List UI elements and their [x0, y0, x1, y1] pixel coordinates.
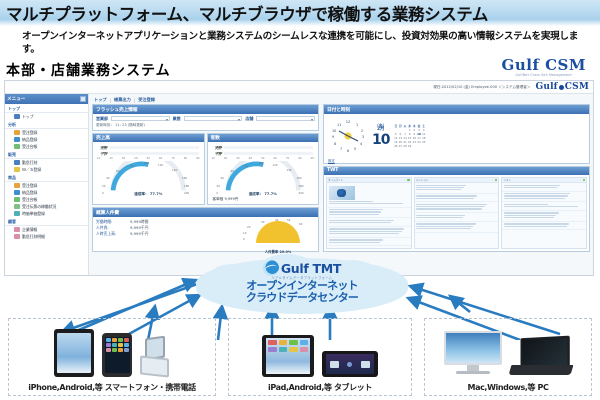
device-caption-pc: Mac,Windows,等 PC: [425, 382, 591, 393]
axis-tick: 90: [311, 157, 314, 160]
labor-cost-panel-title: 概算人件費: [93, 208, 318, 217]
calendar-day[interactable]: 22: [407, 140, 412, 144]
labor-cost-pie: 0 10 20 30 42 54 60 人件費率: [241, 219, 315, 249]
calendar-day[interactable]: 17: [417, 136, 422, 140]
twt-post-line: [416, 195, 477, 196]
datetime-panel-title: 日付と時刻: [324, 105, 589, 114]
labor-row-key: 人時売上高:: [96, 231, 130, 237]
sidebar-item-4-0[interactable]: 企業情報: [5, 226, 88, 233]
svg-text:4: 4: [360, 142, 362, 146]
bar-value: 772: [102, 151, 108, 155]
calendar-day[interactable]: 11: [421, 132, 426, 136]
twt-post[interactable]: [327, 218, 411, 227]
lead-paragraph: オープンインターネットアプリケーションと業務システムのシームレスな連携を可能にし…: [22, 30, 592, 56]
green-status-icon: [495, 179, 498, 182]
blue-download-icon: [14, 190, 20, 195]
gulf-tmt-swoosh-icon: [263, 260, 279, 276]
breadcrumb-item[interactable]: 受注登録: [138, 97, 155, 103]
logo-dot-icon: [559, 85, 564, 90]
sidebar-item-label: 受注登録: [22, 183, 37, 189]
twt-post[interactable]: [502, 222, 586, 231]
twt-post[interactable]: [415, 194, 499, 203]
sidebar-item-label: 企業情報: [22, 227, 37, 233]
twt-post-line: [329, 231, 402, 232]
axis-tick: 20: [224, 157, 227, 160]
dashboard-left-column: トップ|帳票出力|受注登録 フラッシュ売上情報 営業部業態店舗 更新時刻： 11…: [89, 94, 321, 276]
sidebar-item-3-1[interactable]: 納品登録: [5, 189, 88, 196]
twt-post-line: [416, 223, 476, 224]
twt-column[interactable]: メンション: [414, 177, 500, 249]
guests-panel: 客数 実績601予算790 102030405060708090: [207, 133, 320, 206]
settings-link[interactable]: 設定: [324, 158, 589, 163]
flip-phone-icon: [140, 337, 170, 377]
calendar-day[interactable]: 15: [407, 136, 412, 140]
sidebar-section-label: 顧客: [5, 217, 88, 226]
calendar-day[interactable]: 14: [403, 136, 408, 140]
sales-axis: 102030405060708090: [96, 157, 201, 160]
twt-post-line: [329, 220, 394, 221]
gulf-tmt-logo: Gulf TMT: [263, 260, 341, 276]
guests-panel-body: 実績601予算790 102030405060708090 0: [208, 142, 319, 204]
flash-sales-panel-title: フラッシュ売上情報: [93, 105, 318, 114]
twt-post-line: [329, 201, 373, 202]
calendar-day[interactable]: 26: [393, 144, 398, 148]
orange-doc-icon: [14, 130, 20, 135]
sidebar-item-1-1[interactable]: 納品登録: [5, 136, 88, 143]
sidebar-item-label: 受注台帳: [22, 144, 37, 150]
bar-track: 601: [109, 146, 199, 150]
flash-sales-panel-body: 営業部業態店舗 更新時刻： 11: 23 (随時更新): [93, 114, 318, 130]
twt-post[interactable]: [327, 208, 411, 219]
sidebar-item-label: 納品登録: [22, 190, 37, 196]
sidebar-item-2-1[interactable]: Ｗ／Ｓ登録: [5, 166, 88, 173]
twt-post-line: [329, 214, 379, 215]
svg-text:7: 7: [340, 147, 342, 151]
svg-text:1: 1: [356, 123, 358, 127]
mini-calendar-table: 日月火水木金土123456789101112131415161718192021…: [393, 124, 426, 148]
sales-panel-body: 実績601予算772 102030405060708090 0: [93, 142, 204, 199]
twt-post-line: [329, 222, 392, 223]
app-top-bar: 現在:2012/02/10 (金) Employee-000 ＜システム管理者＞…: [5, 81, 593, 94]
axis-tick: 90: [196, 157, 199, 160]
sidebar-item-label: 納品登録: [22, 137, 37, 143]
guests-panel-title: 客数: [208, 134, 319, 143]
bar-track: 601: [224, 146, 314, 150]
calendar-day[interactable]: 29: [407, 144, 412, 148]
calendar-day[interactable]: 10: [417, 132, 422, 136]
sidebar-item-3-2[interactable]: 受注台帳: [5, 196, 88, 203]
datetime-panel: 日付と時刻 12 1 2: [323, 104, 590, 164]
twt-post-line: [329, 242, 381, 243]
axis-tick: 50: [261, 157, 264, 160]
filter-select[interactable]: [184, 116, 243, 121]
sidebar-item-3-3[interactable]: 受注伝票の稼働状況: [5, 203, 88, 210]
twt-post-line: [416, 187, 464, 188]
bar-row: 予算772: [98, 151, 199, 156]
device-caption-tablets: iPad,Android,等 タブレット: [229, 382, 411, 393]
green-line-icon: [14, 197, 20, 202]
twt-post[interactable]: [415, 183, 499, 194]
slide-page: マルチプラットフォーム、マルチブラウザで稼働する業務システム オープンインターネ…: [0, 0, 600, 400]
sales-bar-chart: 実績601予算772: [96, 144, 201, 156]
filter-select[interactable]: [111, 116, 170, 121]
twt-post-line: [504, 217, 554, 218]
twt-post[interactable]: [415, 213, 499, 222]
axis-tick: 10: [97, 157, 100, 160]
pink-folder-icon: [14, 234, 20, 239]
calendar-day[interactable]: 12: [393, 136, 398, 140]
twt-post[interactable]: [327, 227, 411, 238]
teal-tag-icon: [14, 211, 20, 216]
filter-row: 営業部業態店舗: [96, 116, 315, 122]
twt-post-line: [504, 198, 565, 199]
sidebar-item-1-2[interactable]: 受注台帳: [5, 143, 88, 150]
app-header-logo: GulfCSM: [535, 82, 589, 92]
labor-cost-panel: 概算人件費 労働時間:9,999時間人件費:9,999千円人時売上高:9,999…: [92, 207, 319, 252]
laptop-icon: [510, 337, 572, 377]
sidebar-section-label: トップ: [5, 104, 88, 113]
twt-post-line: [504, 223, 569, 224]
twt-post-line: [416, 204, 487, 205]
labor-pie-caption-label: 人件費率: [265, 250, 279, 254]
green-status-icon: [407, 179, 410, 182]
device-caption-smartphones: iPhone,Android,等 スマートフォン・携帯電話: [9, 382, 215, 393]
twt-post[interactable]: [502, 202, 586, 211]
svg-text:6: 6: [347, 149, 349, 153]
sales-gauge-labels: 0 20 40 60 80 100 120 142 160: [96, 161, 201, 195]
svg-text:12: 12: [346, 120, 351, 124]
bar-row: 実績601: [98, 145, 199, 150]
twt-post-line: [504, 204, 548, 205]
pink-folder-icon: [14, 227, 20, 232]
date-day: 10: [372, 133, 389, 147]
sidebar-section-label: 販売: [5, 150, 88, 159]
app-screenshot: 現在:2012/02/10 (金) Employee-000 ＜システム管理者＞…: [4, 80, 594, 276]
breadcrumb: トップ|帳票出力|受注登録: [92, 96, 319, 104]
calendar-week: 19202122232425: [393, 140, 426, 144]
avg-spend-row: 客単価 9,999円: [211, 197, 316, 202]
axis-tick: 30: [236, 157, 239, 160]
breadcrumb-item[interactable]: 帳票出力: [114, 97, 131, 103]
labor-pie-labels: 0 10 20 30 42 54 60: [241, 219, 315, 249]
sidebar-section-label: 分析: [5, 120, 88, 129]
twt-post-line: [504, 185, 560, 186]
banner-title: マルチプラットフォーム、マルチブラウザで稼働する業務システム: [0, 1, 488, 25]
calendar-day[interactable]: 27: [398, 144, 403, 148]
smartphone-images: [9, 322, 215, 377]
sales-panel: 売上高 実績601予算772 102030405060708090: [92, 133, 205, 206]
calendar-day[interactable]: 21: [403, 140, 408, 144]
gulf-csm-logo-text: Gulf CSM: [502, 58, 586, 73]
tablet-images: [229, 322, 411, 377]
twt-panel-title: TWT: [324, 167, 589, 176]
axis-tick: 60: [273, 157, 276, 160]
yellow-line-icon: [14, 167, 20, 172]
sidebar-item-2-0[interactable]: 勤怠打刻: [5, 159, 88, 166]
sidebar-item-3-0[interactable]: 受注登録: [5, 182, 88, 189]
twt-column-name: タイムライン: [328, 178, 343, 182]
svg-text:8: 8: [334, 142, 336, 146]
blue-download-icon: [14, 137, 20, 142]
twt-post-line: [504, 187, 557, 188]
twt-post-line: [329, 228, 405, 229]
twt-post-line: [329, 211, 381, 212]
page-title: 本部・店舗業務システム: [6, 60, 171, 80]
sidebar-item-label: 受注登録: [22, 130, 37, 136]
sidebar-item-0-0[interactable]: トップ: [5, 113, 88, 120]
labor-pie-caption-value: 20.0%: [279, 250, 291, 254]
svg-text:10: 10: [332, 129, 336, 133]
sales-panel-title: 売上高: [93, 134, 204, 143]
android-tablet-wide-icon: [322, 351, 378, 377]
labor-pie-caption: 人件費率 20.0%: [241, 249, 315, 254]
twt-post-line: [416, 185, 466, 186]
updated-time: 更新時刻： 11: 23 (随時更新): [96, 123, 315, 128]
sidebar-item-label: トップ: [22, 114, 33, 120]
axis-tick: 10: [212, 157, 215, 160]
home-icon: [14, 160, 20, 165]
home-icon: [14, 114, 20, 119]
twt-post[interactable]: [327, 183, 411, 208]
axis-tick: 40: [134, 157, 137, 160]
twt-post-line: [504, 212, 559, 213]
gulf-tmt-logo-text: Gulf TMT: [281, 261, 341, 276]
calendar-day[interactable]: 25: [421, 140, 426, 144]
calendar-day[interactable]: 28: [403, 144, 408, 148]
labor-cost-rows: 労働時間:9,999時間人件費:9,999千円人時売上高:9,999千円: [96, 219, 241, 249]
twt-post-line: [504, 226, 567, 227]
calendar-day[interactable]: 19: [393, 140, 398, 144]
calendar-day[interactable]: [421, 144, 426, 148]
twt-post-line: [416, 215, 465, 216]
filter-label: 営業部: [96, 116, 108, 122]
app-status-text: 現在:2012/02/10 (金) Employee-000 ＜システム管理者＞: [433, 85, 530, 90]
bar-track: 772: [109, 152, 199, 156]
calendar-day[interactable]: 23: [412, 140, 417, 144]
guests-gauge: 0 20 40 60 80 100 120 142 160: [211, 161, 316, 195]
twt-post[interactable]: [327, 238, 411, 247]
axis-tick: 30: [122, 157, 125, 160]
twt-post-image: [329, 186, 355, 200]
twt-post-line: [416, 217, 463, 218]
sidebar-item-3-4[interactable]: 時価単価登録: [5, 210, 88, 217]
pc-images: [425, 322, 591, 377]
guests-bar-chart: 実績601予算790: [211, 144, 316, 156]
flash-sales-panel: フラッシュ売上情報 営業部業態店舗 更新時刻： 11: 23 (随時更新): [92, 104, 319, 131]
twt-column-name: リスト: [503, 178, 511, 182]
calendar-header: 木: [412, 124, 417, 128]
bar-row: 予算790: [213, 151, 314, 156]
sidebar-item-label: Ｗ／Ｓ登録: [22, 167, 41, 173]
axis-tick: 20: [109, 157, 112, 160]
analog-clock-icon: 12 1 2 3 4 5 6 7 8 9: [328, 116, 368, 156]
twt-post-line: [416, 226, 473, 227]
app-body: メニュー トップトップ分析受注登録納品登録受注台帳販売勤怠打刻Ｗ／Ｓ登録商品受注…: [5, 94, 593, 276]
twt-post[interactable]: [415, 202, 499, 213]
sidebar-item-label: 受注伝票の稼働状況: [22, 204, 56, 210]
green-status-icon: [583, 179, 586, 182]
twt-post[interactable]: [502, 211, 586, 222]
dashboard-right-column: 日付と時刻 12 1 2: [321, 94, 593, 276]
cloud-line-2: クラウドデータセンター: [246, 292, 358, 304]
iphone-icon: [102, 333, 132, 377]
device-row: iPhone,Android,等 スマートフォン・携帯電話: [0, 318, 600, 400]
sidebar-item-4-1[interactable]: 勤怠打刻明細: [5, 233, 88, 240]
twt-post-line: [504, 195, 568, 196]
twt-post[interactable]: [415, 222, 499, 233]
axis-tick: 70: [171, 157, 174, 160]
gulf-csm-logo: Gulf CSM GulfNet Cross Sell Management: [502, 58, 586, 77]
twt-post-line: [416, 198, 474, 199]
twt-post-line: [329, 239, 383, 240]
orange-doc-icon: [14, 183, 20, 188]
calendar-day[interactable]: 13: [398, 136, 403, 140]
guests-gauge-labels: 0 20 40 60 80 100 120 142 160: [211, 161, 316, 195]
axis-tick: 50: [147, 157, 150, 160]
twt-post-line: [504, 206, 578, 207]
bar-value: 601: [217, 145, 223, 149]
axis-tick: 80: [298, 157, 301, 160]
avg-spend-label: 客単価: [213, 197, 224, 201]
twt-post-line: [329, 209, 384, 210]
bar-value: 790: [217, 151, 223, 155]
axis-tick: 70: [286, 157, 289, 160]
svg-text:2: 2: [361, 129, 363, 133]
twt-post-line: [329, 203, 403, 204]
device-group-smartphones: iPhone,Android,等 スマートフォン・携帯電話: [8, 318, 216, 396]
twt-panel: TWT タイムラインメンションリスト: [323, 166, 590, 253]
green-line-icon: [14, 144, 20, 149]
imac-icon: [444, 331, 502, 377]
svg-text:9: 9: [332, 135, 334, 139]
twt-post-line: [504, 193, 570, 194]
bar-row: 実績601: [213, 145, 314, 150]
device-group-tablets: iPad,Android,等 タブレット: [228, 318, 412, 396]
date-display: （金） 2月 10: [372, 124, 389, 146]
sidebar-item-label: 勤怠打刻: [22, 160, 37, 166]
twt-post-line: [416, 228, 471, 229]
calendar-day[interactable]: 24: [417, 140, 422, 144]
cloud-datacenter: Gulf TMT リアルタイムデータプラットフォーム オープンインターネット ク…: [196, 258, 408, 314]
calendar-day[interactable]: 18: [421, 136, 426, 140]
twt-column-name: メンション: [416, 178, 429, 182]
svg-text:5: 5: [354, 147, 356, 151]
svg-text:11: 11: [337, 123, 341, 127]
sales-gauge: 0 20 40 60 80 100 120 142 160: [96, 161, 201, 195]
breadcrumb-separator: |: [110, 98, 111, 103]
twt-post[interactable]: [502, 183, 586, 192]
axis-tick: 80: [184, 157, 187, 160]
labor-row: 人時売上高:9,999千円: [96, 231, 241, 237]
twt-post[interactable]: [502, 192, 586, 203]
twt-post-line: [504, 215, 556, 216]
banner: マルチプラットフォーム、マルチブラウザで稼働する業務システム: [0, 0, 600, 26]
twt-post-line: [416, 208, 482, 209]
sidebar-sections: トップトップ分析受注登録納品登録受注台帳販売勤怠打刻Ｗ／Ｓ登録商品受注登録納品登…: [5, 104, 88, 240]
ipad-icon: [262, 335, 314, 377]
sidebar-item-1-0[interactable]: 受注登録: [5, 129, 88, 136]
sidebar-header: メニュー: [5, 94, 88, 104]
twt-post-line: [329, 233, 400, 234]
filter-select[interactable]: [256, 116, 315, 121]
device-group-pc: Mac,Windows,等 PC: [424, 318, 592, 396]
filter-label: 業態: [173, 116, 181, 122]
kpi-panels: 売上高 実績601予算772 102030405060708090: [92, 133, 319, 208]
avg-spend-value: 9,999円: [224, 197, 238, 201]
calendar-day[interactable]: 16: [412, 136, 417, 140]
sidebar-item-label: 勤怠打刻明細: [22, 234, 45, 240]
twt-post-line: [416, 206, 485, 207]
guests-axis: 102030405060708090: [211, 157, 316, 160]
calendar-week: 12131415161718: [393, 136, 426, 140]
collapse-box-icon[interactable]: [80, 96, 86, 102]
axis-tick: 40: [249, 157, 252, 160]
twt-column[interactable]: リスト: [501, 177, 587, 249]
breadcrumb-item[interactable]: トップ: [94, 97, 107, 103]
labor-cost-panel-body: 労働時間:9,999時間人件費:9,999千円人時売上高:9,999千円 0 1…: [93, 217, 318, 251]
svg-text:3: 3: [362, 135, 364, 139]
sidebar-section-label: 商品: [5, 173, 88, 182]
bar-track: 790: [224, 152, 314, 156]
dashboard-main: トップ|帳票出力|受注登録 フラッシュ売上情報 営業部業態店舗 更新時刻： 11…: [89, 94, 593, 276]
sidebar: メニュー トップトップ分析受注登録納品登録受注台帳販売勤怠打刻Ｗ／Ｓ登録商品受注…: [5, 94, 89, 276]
axis-tick: 60: [159, 157, 162, 160]
android-tablet-icon: [54, 329, 94, 377]
green-chart-icon: [14, 204, 20, 209]
sidebar-title: メニュー: [7, 96, 25, 102]
calendar-day[interactable]: 20: [398, 140, 403, 144]
bar-value: 601: [102, 145, 108, 149]
sidebar-item-label: 受注台帳: [22, 197, 37, 203]
datetime-panel-body: 12 1 2 3 4 5 6 7 8 9: [324, 114, 589, 163]
gulf-csm-logo-tagline: GulfNet Cross Sell Management: [502, 74, 586, 77]
breadcrumb-separator: |: [134, 98, 135, 103]
mini-calendar: 日月火水木金土123456789101112131415161718192021…: [393, 124, 426, 148]
calendar-week: 26272829: [393, 144, 426, 148]
twt-post-line: [416, 189, 461, 190]
labor-row-value: 9,999千円: [130, 231, 148, 237]
cloud-text: Gulf TMT リアルタイムデータプラットフォーム オープンインターネット ク…: [196, 258, 408, 314]
clock-row: 12 1 2 3 4 5 6 7 8 9: [324, 114, 589, 158]
filter-label: 店舗: [245, 116, 253, 122]
twt-column[interactable]: タイムライン: [326, 177, 412, 249]
sidebar-item-label: 時価単価登録: [22, 211, 45, 217]
twt-columns: タイムラインメンションリスト: [324, 175, 589, 251]
